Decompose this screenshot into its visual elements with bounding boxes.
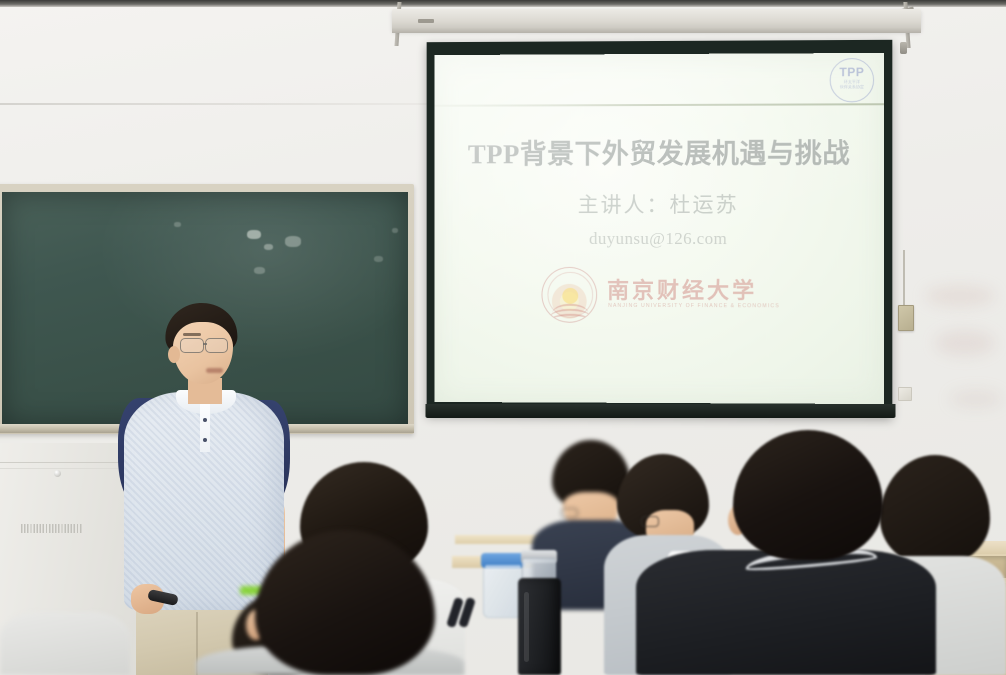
glasses-icon: [180, 338, 204, 353]
wall-seam: [0, 103, 430, 105]
wall-stain: [935, 330, 995, 356]
glasses-bridge: [203, 343, 207, 345]
slide-email: duyunsu@126.com: [435, 229, 885, 249]
presenter-shirt-button: [203, 418, 207, 422]
presenter-shirt-placket: [200, 404, 210, 452]
tpp-logo-subtext-line2: 伙伴关系协定: [840, 84, 864, 89]
power-outlet[interactable]: [898, 387, 912, 401]
tpp-logo-text: TPP: [830, 65, 874, 79]
slide-speaker: 主讲人：杜运苏: [435, 189, 885, 219]
water-container-band: [485, 565, 521, 569]
university-logo-english: NANJING UNIVERSITY OF FINANCE & ECONOMIC…: [608, 303, 780, 309]
thermos-highlight: [524, 592, 529, 662]
presenter-ear: [168, 346, 180, 363]
wall-junction-box[interactable]: [898, 305, 914, 331]
cabinet-vent-slits: [21, 524, 83, 533]
projection-screen-bottom-bar: [426, 404, 896, 418]
screen-bracket-pin: [900, 42, 907, 54]
presenter-mouth: [206, 368, 223, 373]
slide-divider-line: [435, 103, 885, 106]
glasses-icon: [561, 508, 578, 518]
presenter-shirt-button: [203, 438, 207, 442]
wall-stain: [950, 390, 1002, 408]
slide-title: TPP背景下外贸发展机遇与挑战: [435, 131, 885, 171]
presentation-slide: TPP 环太平洋 伙伴关系协定 TPP背景下外贸发展机遇与挑战 主讲人：杜运苏 …: [435, 53, 885, 404]
cabinet-knob[interactable]: [54, 470, 61, 477]
wall-stain: [925, 285, 995, 307]
classroom-photo: TPP 环太平洋 伙伴关系协定 TPP背景下外贸发展机遇与挑战 主讲人：杜运苏 …: [0, 0, 1006, 675]
tpp-logo: TPP 环太平洋 伙伴关系协定: [830, 58, 874, 102]
screen-cord: [903, 250, 905, 306]
housing-label: [418, 19, 434, 23]
presenter-eyebrow: [183, 333, 201, 336]
university-logo: 南京财经大学 NANJING UNIVERSITY OF FINANCE & E…: [541, 267, 781, 325]
glasses-icon: [641, 516, 659, 527]
ceiling-edge: [0, 0, 1006, 7]
glasses-icon: [205, 338, 228, 353]
projector-screen-housing-lip: [392, 28, 921, 33]
tpp-logo-subtext: 环太平洋 伙伴关系协定: [830, 79, 874, 89]
university-logo-badge: [541, 267, 597, 323]
student-torso: [0, 612, 130, 675]
university-logo-chinese: 南京财经大学: [607, 273, 757, 305]
university-logo-sun: [562, 288, 578, 304]
